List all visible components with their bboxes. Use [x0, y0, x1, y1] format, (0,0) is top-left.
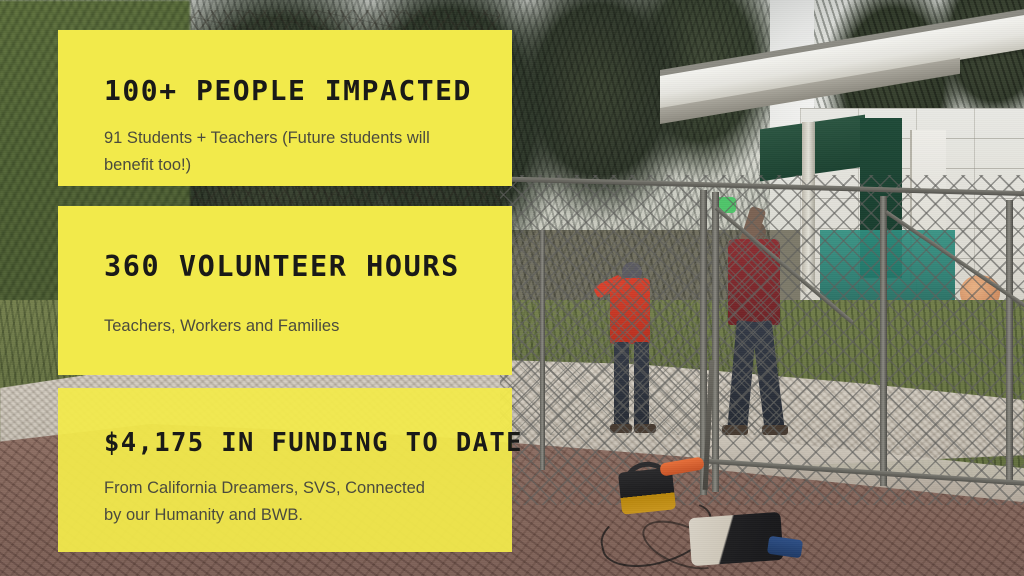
stat-card-subtitle: 91 Students + Teachers (Future students … — [104, 107, 444, 178]
impact-stats-slide: 100+ PEOPLE IMPACTED 91 Students + Teach… — [0, 0, 1024, 576]
fence-post-left — [540, 230, 545, 470]
stat-card-funding-to-date: $4,175 IN FUNDING TO DATE From Californi… — [58, 388, 512, 552]
stat-card-title: 100+ PEOPLE IMPACTED — [104, 30, 466, 107]
stat-card-title: $4,175 IN FUNDING TO DATE — [104, 388, 466, 458]
stat-card-subtitle: Teachers, Workers and Families — [104, 283, 444, 340]
stat-card-volunteer-hours: 360 VOLUNTEER HOURS Teachers, Workers an… — [58, 206, 512, 375]
fence-post-right — [880, 196, 887, 486]
stat-card-title: 360 VOLUNTEER HOURS — [104, 206, 466, 283]
fence-post-far-right — [1006, 200, 1013, 485]
stat-card-people-impacted: 100+ PEOPLE IMPACTED 91 Students + Teach… — [58, 30, 512, 186]
chain-link-fence — [500, 175, 1024, 505]
fence-gate-post — [712, 192, 719, 492]
stat-card-subtitle: From California Dreamers, SVS, Connected… — [104, 458, 444, 528]
